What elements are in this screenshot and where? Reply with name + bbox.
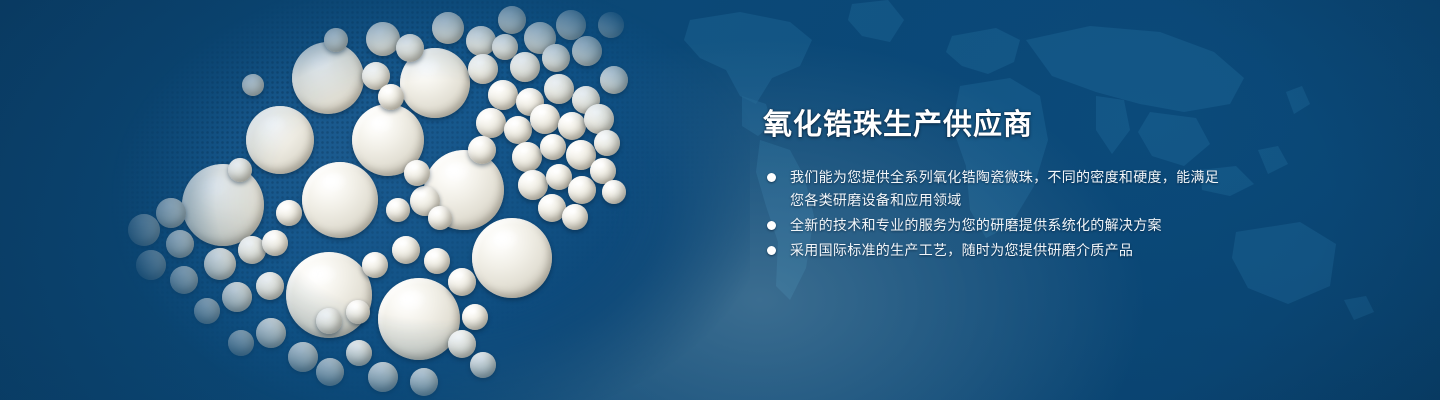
feature-list: 我们能为您提供全系列氧化锆陶瓷微珠，不同的密度和硬度，能满足您各类研磨设备和应用…	[763, 166, 1233, 262]
list-item: 全新的技术和专业的服务为您的研磨提供系统化的解决方案	[763, 214, 1233, 237]
banner-text-block: 氧化锆珠生产供应商 我们能为您提供全系列氧化锆陶瓷微珠，不同的密度和硬度，能满足…	[763, 106, 1233, 264]
bead-cluster	[110, 0, 750, 400]
bullet-dot-icon	[767, 221, 776, 230]
list-item-label: 全新的技术和专业的服务为您的研磨提供系统化的解决方案	[790, 214, 1233, 237]
hero-banner: 氧化锆珠生产供应商 我们能为您提供全系列氧化锆陶瓷微珠，不同的密度和硬度，能满足…	[0, 0, 1440, 400]
list-item-label: 采用国际标准的生产工艺，随时为您提供研磨介质产品	[790, 239, 1233, 262]
bullet-dot-icon	[767, 246, 776, 255]
page-title: 氧化锆珠生产供应商	[763, 106, 1233, 144]
zirconia-beads-photo	[110, 0, 750, 400]
list-item: 采用国际标准的生产工艺，随时为您提供研磨介质产品	[763, 239, 1233, 262]
list-item-label: 我们能为您提供全系列氧化锆陶瓷微珠，不同的密度和硬度，能满足您各类研磨设备和应用…	[790, 166, 1233, 212]
bullet-dot-icon	[767, 173, 776, 182]
list-item: 我们能为您提供全系列氧化锆陶瓷微珠，不同的密度和硬度，能满足您各类研磨设备和应用…	[763, 166, 1233, 212]
